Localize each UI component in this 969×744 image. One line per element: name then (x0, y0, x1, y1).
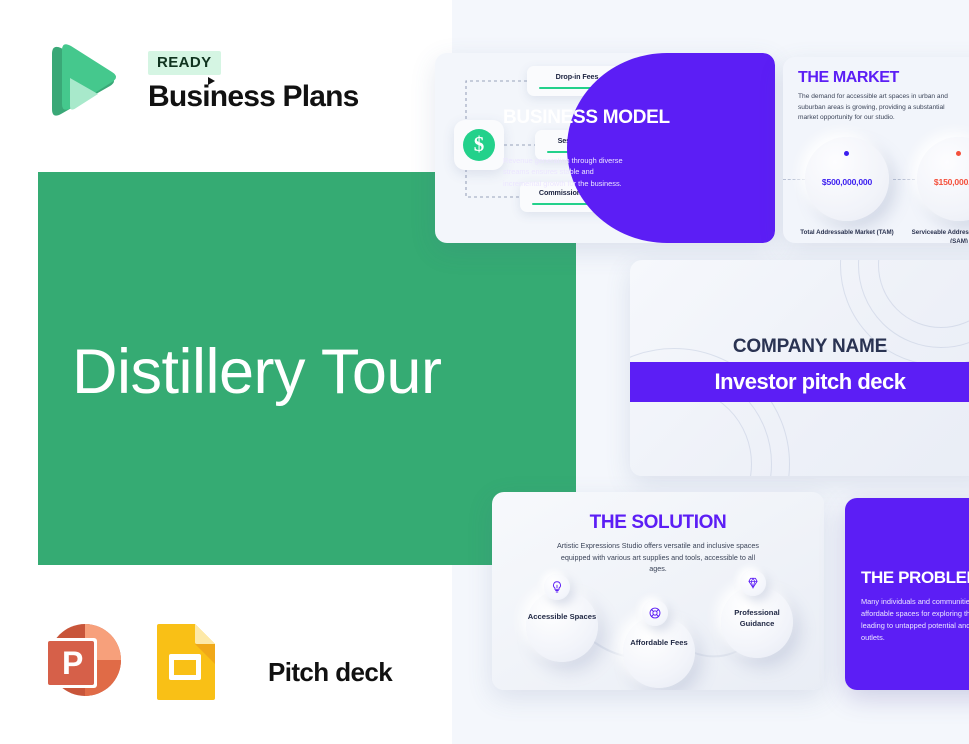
dollar-badge: $ (454, 120, 504, 170)
item-label: Accessible Spaces (526, 612, 598, 623)
lifebuoy-icon (642, 600, 668, 626)
problem-title: THE PROBLEM (861, 568, 969, 588)
diamond-icon (740, 570, 766, 596)
format-label: Pitch deck (268, 657, 392, 688)
powerpoint-icon: P (40, 620, 124, 700)
slide-solution[interactable]: THE SOLUTION Artistic Expressions Studio… (492, 492, 824, 690)
slide-market[interactable]: THE MARKET The demand for accessible art… (783, 57, 969, 243)
metric-caption: Total Addressable Market (TAM) (795, 229, 899, 238)
page-title: Distillery Tour (72, 341, 441, 404)
slide-company-title[interactable]: COMPANY NAME Investor pitch deck (630, 260, 969, 476)
slide-problem[interactable]: THE PROBLEM Many individuals and communi… (845, 498, 969, 690)
brand-name: Business Plans (148, 80, 359, 114)
problem-body: Many individuals and communities lack ac… (861, 596, 969, 644)
company-name: COMPANY NAME (630, 336, 969, 358)
metric-caption: Serviceable Addressable Market (SAM) (907, 229, 969, 243)
play-dot-icon (208, 77, 215, 85)
metric-dot (844, 151, 849, 156)
google-slides-icon (153, 622, 217, 700)
brand-logo: READY Business Plans (40, 36, 370, 120)
business-model-title: BUSINESS MODEL (503, 108, 670, 128)
item-disc (526, 590, 598, 662)
ready-badge: READY (148, 51, 221, 75)
play-triangle-logo-icon (40, 36, 116, 118)
market-dash-mid (893, 179, 915, 180)
brand-name-text: Business Plans (148, 80, 359, 113)
dollar-icon: $ (463, 129, 495, 161)
deck-subtitle: Investor pitch deck (630, 362, 969, 402)
subtitle-band: Investor pitch deck (630, 362, 969, 402)
slide-business-model[interactable]: $ Drop-in Fees Session Workshops Commiss… (435, 53, 775, 243)
item-disc (623, 616, 695, 688)
business-model-panel (567, 53, 775, 243)
business-model-body: Revenue generation through diverse strea… (503, 155, 623, 189)
svg-text:P: P (62, 645, 83, 681)
metric-value: $500,000,000 (805, 177, 889, 187)
market-body: The demand for accessible art spaces in … (798, 92, 966, 124)
item-label: Affordable Fees (623, 638, 695, 649)
metric-value: $150,000,000 (917, 177, 969, 187)
market-title: THE MARKET (798, 69, 899, 87)
market-dash-left (783, 179, 805, 180)
item-label: Professional Guidance (721, 608, 793, 630)
lightbulb-icon (544, 574, 570, 600)
poster-canvas: Distillery Tour READY Business Plans P (0, 0, 969, 744)
metric-dot (956, 151, 961, 156)
